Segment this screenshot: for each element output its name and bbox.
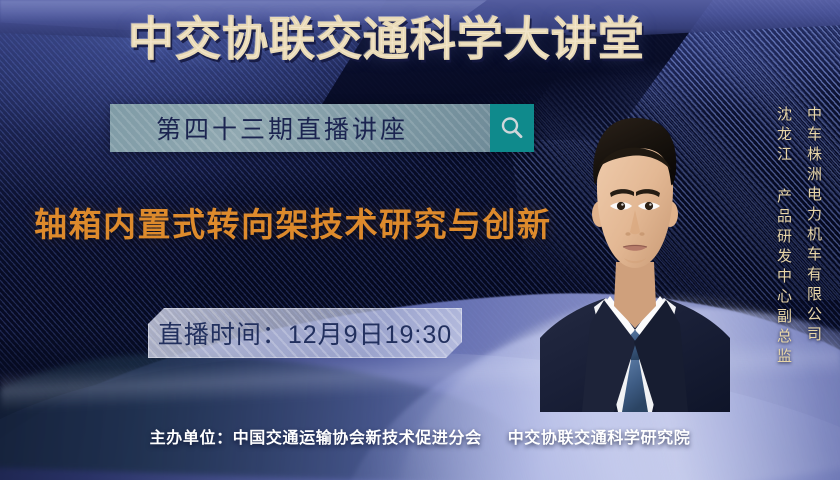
speaker-company: 中车株洲电力机车有限公司	[803, 106, 824, 346]
broadcast-time-text: 直播时间：12月9日19:30	[158, 315, 452, 351]
footer-org-2: 中交协联交通科学研究院	[508, 430, 691, 447]
footer-org-1: 中国交通运输协会新技术促进分会	[233, 430, 482, 447]
lecture-title: 轴箱内置式转向架技术研究与创新	[34, 198, 594, 246]
footer-label: 主办单位：	[150, 430, 233, 447]
episode-banner-body: 第四十三期直播讲座	[110, 104, 490, 152]
broadcast-time-chip: 直播时间：12月9日19:30	[148, 308, 462, 358]
speaker-portrait	[540, 92, 730, 412]
search-icon-button[interactable]	[490, 104, 534, 152]
page-title: 中交协联交通科学大讲堂	[128, 14, 708, 65]
search-icon	[498, 114, 526, 142]
episode-label: 第四十三期直播讲座	[156, 110, 408, 146]
speaker-name-and-role: 沈龙江 产品研发中心副总监	[773, 106, 794, 368]
lecture-poster: 中交协联交通科学大讲堂 第四十三期直播讲座 轴箱内置式转向架技术研究与创新 直播…	[0, 0, 840, 480]
footer-organizers: 主办单位：中国交通运输协会新技术促进分会中交协联交通科学研究院	[0, 424, 840, 448]
episode-banner: 第四十三期直播讲座	[110, 104, 534, 152]
